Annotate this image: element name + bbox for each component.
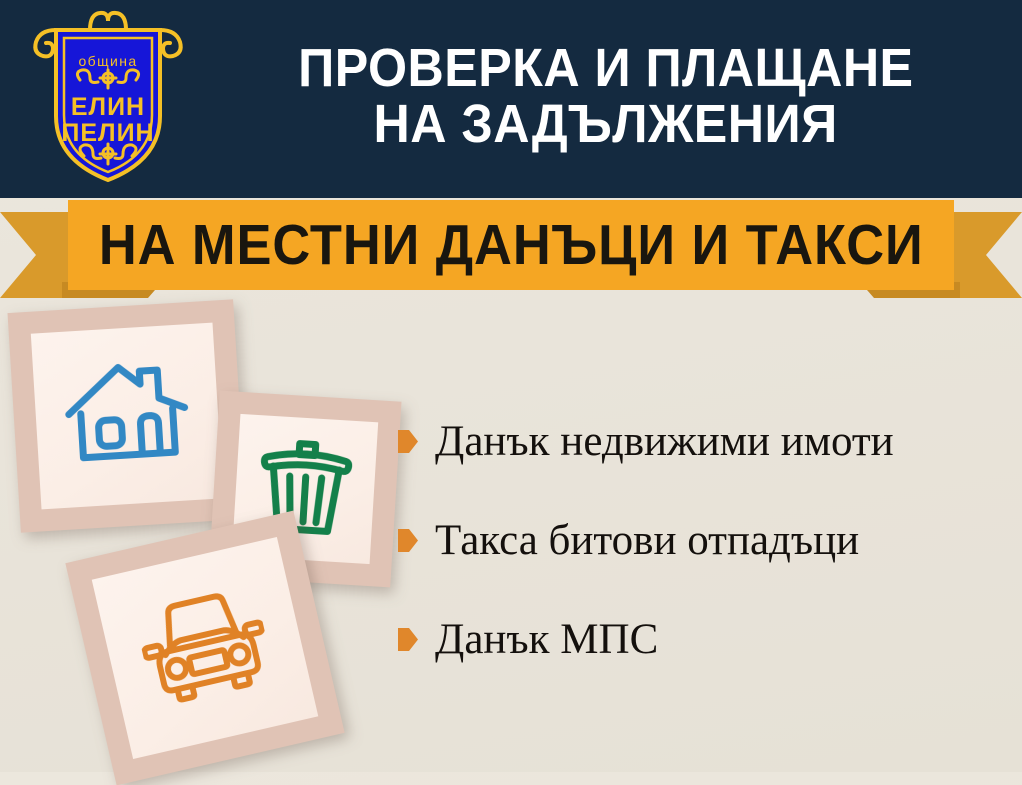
- list-item-label: Данък МПС: [435, 618, 658, 661]
- bullet-arrow-icon: [398, 529, 418, 552]
- svg-text:ЕЛИН: ЕЛИН: [71, 93, 145, 121]
- list-item[interactable]: Такса битови отпадъци: [398, 519, 1008, 562]
- car-icon: [132, 581, 277, 715]
- list-item-label: Данък недвижими имоти: [435, 420, 894, 463]
- stamp-property-tax: [7, 299, 246, 532]
- stamp-vehicle-tax: [65, 511, 344, 785]
- municipality-logo: община ЕЛИН ПЕЛИН: [28, 8, 188, 188]
- subtitle-ribbon: НА МЕСТНИ ДАНЪЦИ И ТАКСИ: [0, 196, 1022, 308]
- page-title-line-2: НА ЗАДЪЛЖЕНИЯ: [374, 96, 838, 152]
- page-title: ПРОВЕРКА И ПЛАЩАНЕ НА ЗАДЪЛЖЕНИЯ: [190, 0, 1022, 198]
- page-title-line-1: ПРОВЕРКА И ПЛАЩАНЕ: [298, 40, 913, 96]
- stamp-paper: [31, 323, 223, 510]
- list-item[interactable]: Данък недвижими имоти: [398, 420, 1008, 463]
- bullet-arrow-icon: [398, 628, 418, 651]
- svg-text:община: община: [78, 53, 137, 69]
- house-icon: [61, 355, 194, 477]
- bullet-arrow-icon: [398, 430, 418, 453]
- tax-type-list: Данък недвижими имоти Такса битови отпад…: [398, 420, 1008, 717]
- list-item-label: Такса битови отпадъци: [435, 519, 859, 562]
- list-item[interactable]: Данък МПС: [398, 618, 1008, 661]
- ribbon-label: НА МЕСТНИ ДАНЪЦИ И ТАКСИ: [99, 212, 924, 278]
- ribbon-panel: НА МЕСТНИ ДАНЪЦИ И ТАКСИ: [68, 200, 954, 290]
- header-banner: община ЕЛИН ПЕЛИН ПРОВЕРКА И ПЛАЩАНЕ НА: [0, 0, 1022, 198]
